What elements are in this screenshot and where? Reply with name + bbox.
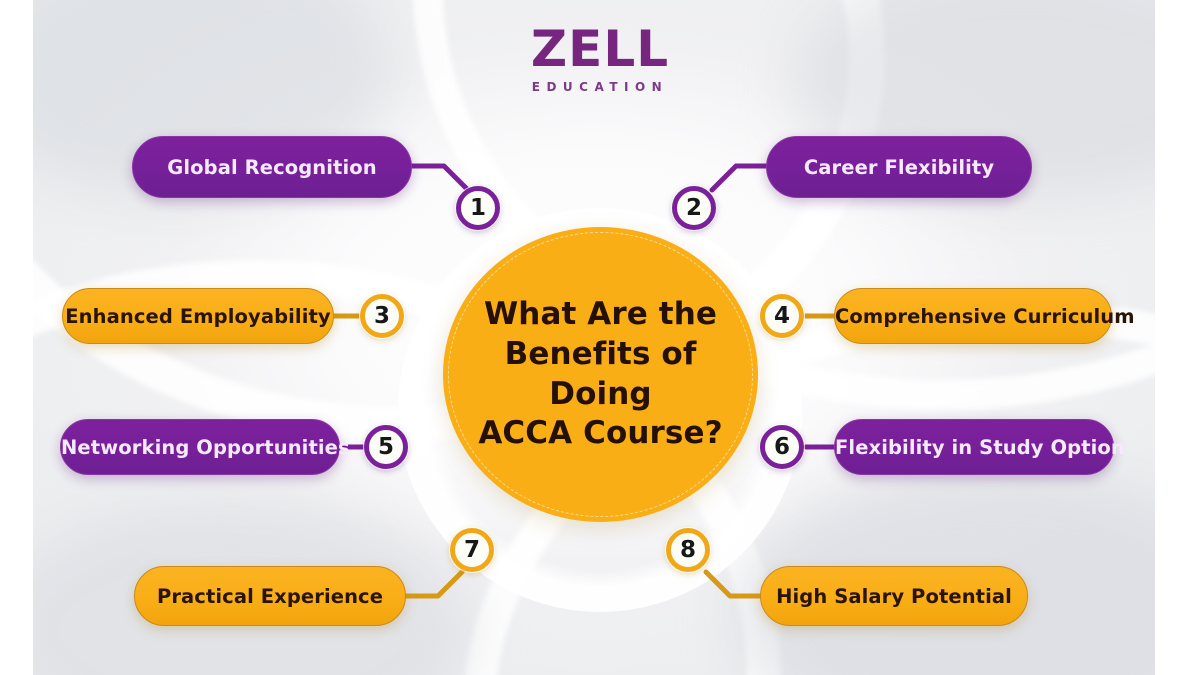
benefit-badge-4[interactable]: 4 <box>760 294 804 338</box>
logo-wordmark: ZELL <box>0 24 1200 74</box>
benefit-label-2: Career Flexibility <box>767 156 1031 179</box>
connector-7 <box>404 572 462 596</box>
benefit-item-1[interactable]: Global Recognition <box>132 136 412 198</box>
benefit-label-7: Practical Experience <box>135 585 405 608</box>
benefit-label-4: Comprehensive Curriculum <box>835 305 1111 328</box>
benefit-badge-7[interactable]: 7 <box>450 528 494 572</box>
benefit-item-8[interactable]: High Salary Potential <box>760 566 1028 626</box>
benefit-badge-1[interactable]: 1 <box>456 186 500 230</box>
benefit-badge-8[interactable]: 8 <box>666 528 710 572</box>
connector-1 <box>410 166 468 190</box>
benefit-label-8: High Salary Potential <box>761 585 1027 608</box>
benefit-badge-2[interactable]: 2 <box>672 186 716 230</box>
benefit-label-5: Networking Opportunities <box>61 436 339 459</box>
connector-8 <box>706 572 764 596</box>
logo-tagline: EDUCATION <box>0 80 1200 94</box>
benefit-badge-6[interactable]: 6 <box>760 425 804 469</box>
benefit-badge-5[interactable]: 5 <box>364 425 408 469</box>
benefit-badge-3[interactable]: 3 <box>360 294 404 338</box>
benefit-label-1: Global Recognition <box>133 156 411 179</box>
benefit-item-6[interactable]: Flexibility in Study Option <box>834 419 1114 475</box>
benefit-item-5[interactable]: Networking Opportunities <box>60 419 340 475</box>
benefit-item-4[interactable]: Comprehensive Curriculum <box>834 288 1112 344</box>
benefit-label-6: Flexibility in Study Option <box>835 436 1113 459</box>
connector-2 <box>712 166 770 190</box>
zell-education-logo: ZELL EDUCATION <box>0 24 1200 94</box>
benefit-label-3: Enhanced Employability <box>63 305 333 328</box>
benefit-item-2[interactable]: Career Flexibility <box>766 136 1032 198</box>
infographic-canvas: ZELL EDUCATION What Are the Benefits of … <box>0 0 1200 675</box>
benefit-item-7[interactable]: Practical Experience <box>134 566 406 626</box>
benefit-item-3[interactable]: Enhanced Employability <box>62 288 334 344</box>
